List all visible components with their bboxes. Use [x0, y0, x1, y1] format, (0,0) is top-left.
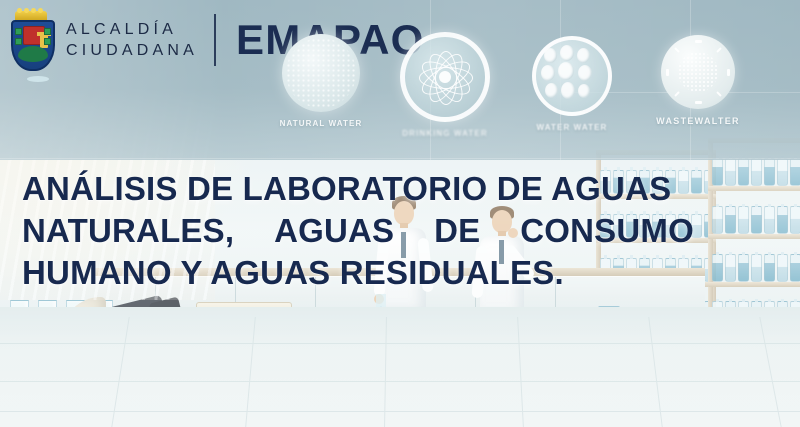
droplet-cluster-icon — [532, 36, 612, 116]
concept-water-water: WATER WATER — [514, 36, 630, 132]
water-type-icon-row: NATURAL WATER DRINKING WATER — [262, 26, 792, 156]
concept-wastewater: WASTEWALTER — [634, 35, 762, 126]
atom-orbit-icon — [400, 32, 490, 122]
headline: ANÁLISIS DE LABORATORIO DE AGUAS NATURAL… — [22, 168, 694, 294]
brand-divider — [214, 14, 216, 66]
brand-header-band: ALCALDÍA CIUDADANA EMAPAO NATURAL WATER — [0, 0, 800, 160]
headline-line-1: ANÁLISIS DE LABORATORIO DE AGUAS — [22, 168, 694, 210]
brand-line-2: CIUDADANA — [66, 40, 198, 61]
coat-of-arms-icon — [8, 11, 54, 69]
concept-label-3: WASTEWALTER — [634, 116, 762, 126]
concept-label-0: NATURAL WATER — [262, 119, 380, 128]
wastewater-disc-icon — [661, 35, 735, 109]
concept-label-2: WATER WATER — [514, 123, 630, 132]
concept-label-1: DRINKING WATER — [382, 129, 508, 138]
headline-line-3: HUMANO Y AGUAS RESIDUALES. — [22, 252, 694, 294]
headline-line-2: NATURALES, AGUAS DE CONSUMO — [22, 210, 694, 252]
brand-line-1: ALCALDÍA — [66, 19, 198, 40]
headline-line-2-word-3: CONSUMO — [520, 210, 694, 252]
headline-line-2-word-1: AGUAS — [274, 210, 394, 252]
concept-natural-water: NATURAL WATER — [262, 34, 380, 128]
stippled-sphere-icon — [282, 34, 360, 112]
promotional-banner: WATER SAMPLE — [0, 0, 800, 427]
concept-drinking-water: DRINKING WATER — [382, 32, 508, 138]
brand-name-text: ALCALDÍA CIUDADANA — [66, 19, 198, 61]
headline-line-2-word-0: NATURALES, — [22, 210, 234, 252]
headline-line-2-word-2: DE — [434, 210, 480, 252]
